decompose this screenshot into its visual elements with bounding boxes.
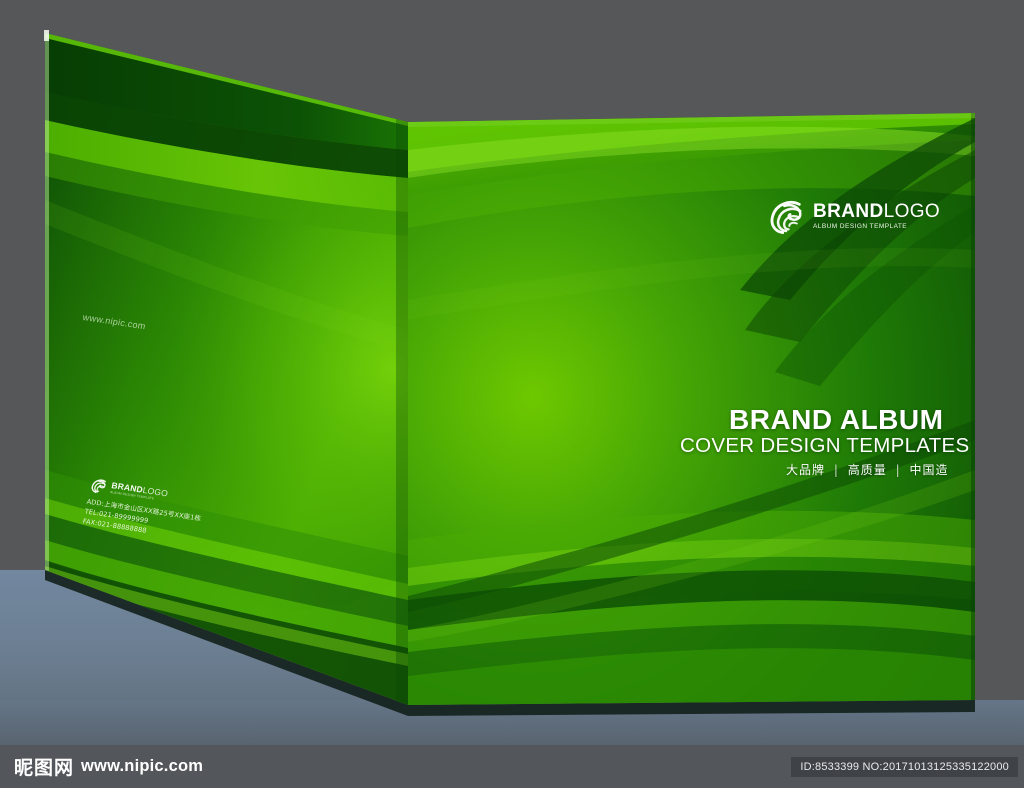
site-brand-url: www.nipic.com <box>81 757 203 776</box>
cover-corner-highlight <box>44 30 49 41</box>
album-mockup-scene: BRANDLOGO ALBUM DESIGN TEMPLATE BRAND AL… <box>0 0 1024 745</box>
asset-id-badge: ID:8533399 NO:20171013125335122000 <box>791 757 1018 777</box>
screenshot-canvas: BRANDLOGO ALBUM DESIGN TEMPLATE BRAND AL… <box>0 0 1024 788</box>
site-brand-cn: 昵图网 <box>14 753 74 780</box>
footer-bar: 昵图网 www.nipic.com ID:8533399 NO:20171013… <box>0 745 1024 788</box>
album-artwork <box>0 0 1024 745</box>
front-cover-panel <box>408 113 975 705</box>
